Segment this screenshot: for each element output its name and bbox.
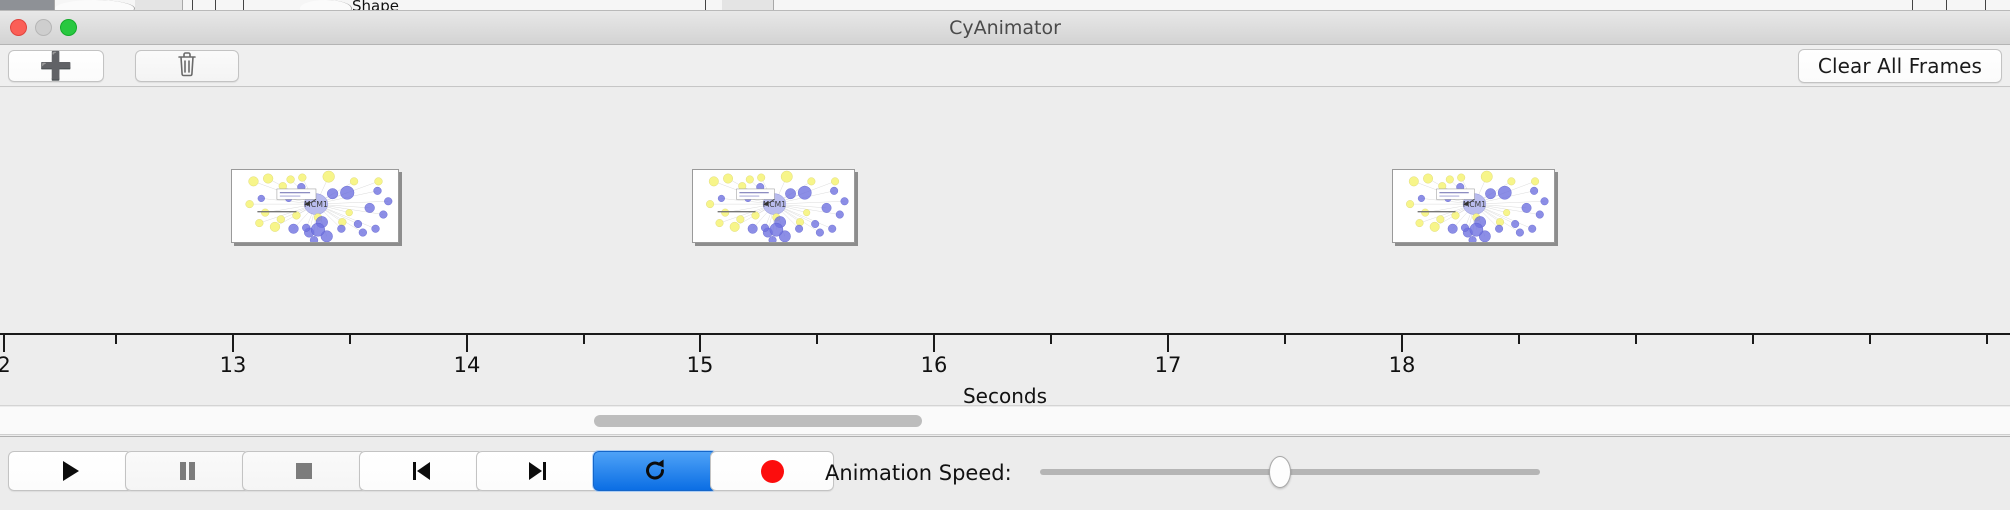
background-window-title: Shape <box>352 0 414 11</box>
title-bar: CyAnimator <box>0 11 2010 45</box>
frame-thumbnail-3[interactable]: MCM1 <box>1392 169 1555 243</box>
stop-button <box>242 451 366 491</box>
svg-text:MCM1: MCM1 <box>763 200 786 209</box>
ruler-tick-label: 14 <box>454 353 481 377</box>
ruler-tick-major <box>232 335 234 352</box>
ruler-tick-minor <box>115 335 117 344</box>
ruler-tick-minor <box>1050 335 1052 344</box>
ruler-tick-label: 18 <box>1389 353 1416 377</box>
ruler-tick-major <box>1167 335 1169 352</box>
skip-to-start-button[interactable] <box>359 451 483 491</box>
trash-icon <box>176 51 198 82</box>
ruler-tick-minor <box>583 335 585 344</box>
ruler-tick-label: 16 <box>921 353 948 377</box>
frame-thumbnail-2[interactable]: MCM1 <box>692 169 855 243</box>
animation-speed-label: Animation Speed: <box>825 461 1012 485</box>
ruler-axis-title: Seconds <box>0 384 2010 406</box>
delete-frame-button[interactable] <box>135 50 239 82</box>
ruler-baseline <box>0 333 2010 335</box>
ruler-tick-minor <box>1752 335 1754 344</box>
ruler-tick-label: 15 <box>687 353 714 377</box>
ruler-tick-minor <box>1284 335 1286 344</box>
skip-backward-icon <box>408 458 434 484</box>
ruler-tick-major <box>933 335 935 352</box>
window-title: CyAnimator <box>0 11 2010 45</box>
ruler-tick-minor <box>349 335 351 344</box>
ruler-tick-major <box>699 335 701 352</box>
ruler-tick-minor <box>1986 335 1988 344</box>
ruler-tick-minor <box>1635 335 1637 344</box>
plus-icon: ➕ <box>39 53 73 80</box>
ruler-tick-major <box>1401 335 1403 352</box>
svg-text:MCM1: MCM1 <box>1463 200 1486 209</box>
stop-icon <box>291 458 317 484</box>
skip-forward-icon <box>525 458 551 484</box>
ruler-tick-minor <box>1869 335 1871 344</box>
pause-button <box>125 451 249 491</box>
ruler-tick-label: 17 <box>1155 353 1182 377</box>
skip-to-end-button[interactable] <box>476 451 600 491</box>
playback-control-bar: Animation Speed: <box>0 436 2010 510</box>
ruler-tick-minor <box>1518 335 1520 344</box>
loop-icon <box>641 457 669 485</box>
timeline-ruler[interactable]: 2131415161718 Seconds <box>0 333 2010 406</box>
play-button[interactable] <box>8 451 132 491</box>
record-icon <box>761 460 784 483</box>
ruler-tick-label: 13 <box>220 353 247 377</box>
timeline-scrollbar-thumb[interactable] <box>594 415 922 427</box>
add-frame-button[interactable]: ➕ <box>8 50 104 82</box>
record-button[interactable] <box>710 451 834 491</box>
svg-text:MCM1: MCM1 <box>304 200 328 209</box>
clear-all-frames-button[interactable]: Clear All Frames <box>1798 49 2002 83</box>
pause-icon <box>174 458 200 484</box>
ruler-tick-major <box>466 335 468 352</box>
ruler-tick-major <box>3 335 5 352</box>
background-window-strip: Shape <box>0 0 2010 11</box>
ruler-tick-minor <box>816 335 818 344</box>
frames-timeline-panel[interactable]: MCM1 MCM1 MCM1 2131415161718 Seconds <box>0 88 2010 406</box>
loop-button[interactable] <box>593 451 717 491</box>
frame-thumbnail-1[interactable]: MCM1 <box>231 169 399 243</box>
play-icon <box>57 458 83 484</box>
animation-speed-slider-thumb[interactable] <box>1269 456 1291 488</box>
timeline-scrollbar-track[interactable] <box>0 407 2010 435</box>
cyanimator-window: Shape CyAnimator ➕ Clear All Frames <box>0 0 2010 510</box>
toolbar: ➕ Clear All Frames <box>0 45 2010 87</box>
ruler-tick-label: 2 <box>0 353 11 377</box>
record-dot <box>761 460 784 483</box>
